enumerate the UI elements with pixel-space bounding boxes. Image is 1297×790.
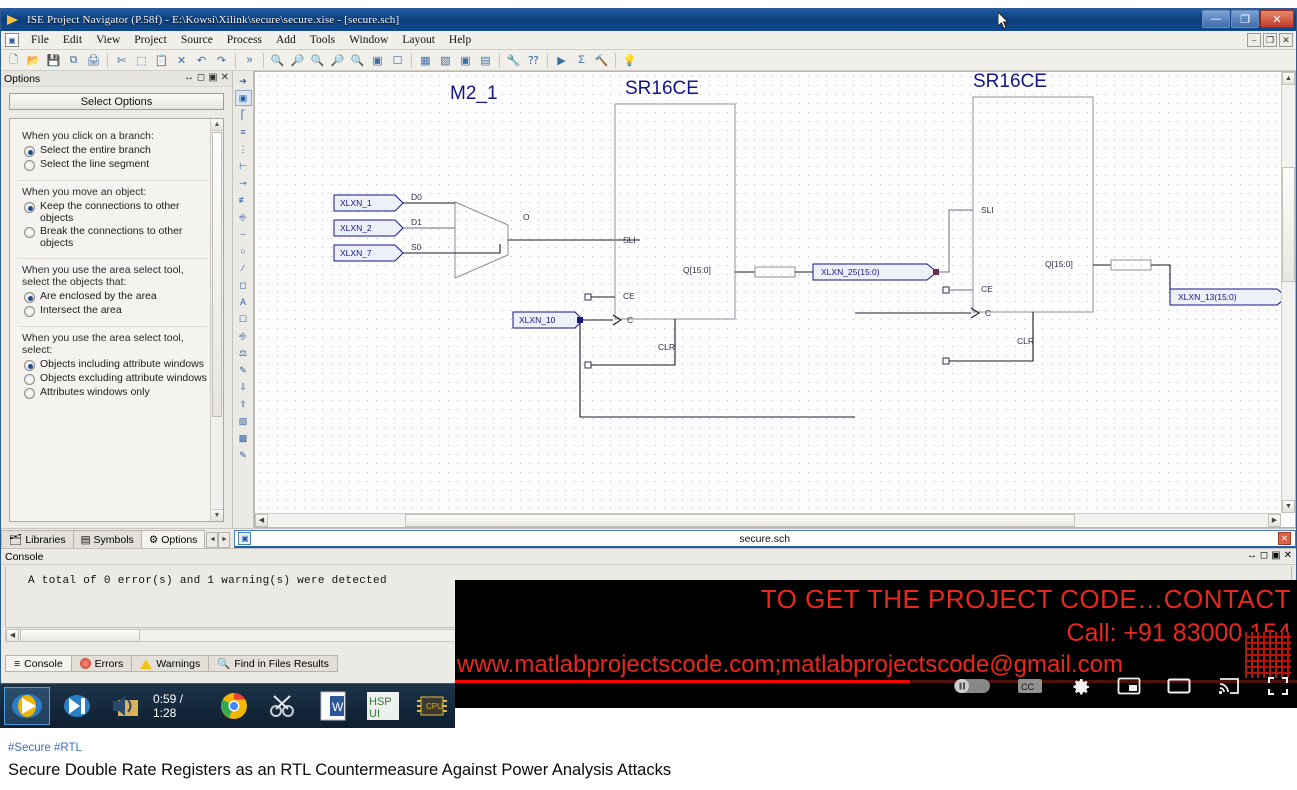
document-tab-secure-sch[interactable]: ▣ secure.sch ✕: [234, 530, 1296, 548]
scroll-right-arrow-icon[interactable]: ▶: [1268, 514, 1281, 527]
draw-rectangle-icon[interactable]: ◻: [235, 277, 252, 293]
video-controls-bar: CC: [455, 668, 1297, 708]
svg-text:XLXN_7: XLXN_7: [340, 248, 372, 258]
console-icon: ≡: [14, 658, 20, 670]
toolbar-separator: [615, 53, 616, 68]
tab-libraries[interactable]: 🗂 Libraries: [1, 530, 74, 548]
minimize-button[interactable]: —: [1202, 10, 1230, 28]
options-list-container: When you click on a branch: Select the e…: [9, 118, 224, 522]
scroll-down-arrow-icon[interactable]: ▼: [1282, 500, 1295, 513]
add-net-name-icon[interactable]: ≡: [235, 124, 252, 140]
svg-text:C: C: [985, 308, 991, 318]
draw-line-icon[interactable]: ∕: [235, 260, 252, 276]
new-sheet-icon[interactable]: ▨: [235, 413, 252, 429]
float-icon[interactable]: ↔: [184, 72, 194, 83]
svg-text:D0: D0: [411, 192, 422, 202]
menu-item-layout[interactable]: Layout: [395, 33, 442, 47]
idea-icon[interactable]: 💡: [620, 52, 639, 69]
video-player-overlay[interactable]: TO GET THE PROJECT CODE…CONTACT Call: +9…: [455, 580, 1297, 708]
svg-text:CC: CC: [1021, 682, 1034, 692]
block-title-m2-1: M2_1: [450, 83, 498, 104]
option-group-move-object: When you move an object: Keep the connec…: [18, 181, 207, 259]
console-tab-errors[interactable]: Errors: [71, 655, 133, 672]
select-pointer-icon[interactable]: ➔: [235, 73, 252, 89]
cc-icon[interactable]: CC: [1017, 677, 1043, 700]
net-flag-xlxn-7: XLXN_7: [334, 245, 403, 261]
create-symbol-icon[interactable]: ⎆: [235, 328, 252, 344]
panel-right-icon[interactable]: ▤: [476, 52, 495, 69]
tab-label: Warnings: [156, 658, 200, 670]
video-metadata: #Secure #RTL Secure Double Rate Register…: [0, 736, 1297, 790]
window-title: ISE Project Navigator (P.58f) - E:\Kowsi…: [27, 14, 399, 26]
svg-text:XLXN_25(15:0): XLXN_25(15:0): [821, 267, 880, 277]
maximize-icon[interactable]: ◻: [197, 72, 205, 83]
option-label: Intersect the area: [40, 305, 122, 317]
radio-icon[interactable]: [24, 160, 35, 171]
run-icon[interactable]: ▶: [552, 52, 571, 69]
dock-icon[interactable]: ▣: [208, 72, 217, 83]
menu-item-window[interactable]: Window: [342, 33, 395, 47]
media-next-icon[interactable]: [54, 687, 100, 725]
options-panel-header: Options ↔ ◻ ▣ ✕: [1, 71, 232, 87]
symbol-wizard-icon[interactable]: ⚖: [235, 345, 252, 361]
video-title: Secure Double Rate Registers as an RTL C…: [0, 754, 1297, 780]
option-group-area-select-attributes: When you use the area select tool, selec…: [18, 327, 207, 408]
internet-explorer-icon[interactable]: [4, 687, 50, 725]
window-controls: — ❐ ✕: [1202, 10, 1294, 28]
radio-icon[interactable]: [24, 146, 35, 157]
options-icon: ⚙: [149, 534, 158, 546]
libraries-icon: 🗂: [9, 533, 22, 546]
constraints-icon[interactable]: 🔨: [592, 52, 611, 69]
add-wire-icon[interactable]: ⎡: [235, 107, 252, 123]
screen-root: ISE Project Navigator (P.58f) - E:\Kowsi…: [0, 0, 1297, 790]
svg-text:XLXN_2: XLXN_2: [340, 223, 372, 233]
schematic-doc-icon: ▣: [5, 33, 19, 47]
find-in-files-icon: 🔍: [217, 657, 230, 670]
edit-sheet-icon[interactable]: ✎: [235, 447, 252, 463]
net-flag-xlxn-2: XLXN_2: [334, 220, 403, 236]
console-tab-warnings[interactable]: Warnings: [131, 655, 209, 672]
save-icon[interactable]: 💾: [44, 52, 63, 69]
option-select-entire-branch[interactable]: Select the entire branch: [24, 145, 207, 157]
video-hashtags[interactable]: #Secure #RTL: [0, 736, 1297, 754]
canvas-vertical-scrollbar[interactable]: ▲ ▼: [1281, 72, 1295, 513]
tab-symbols[interactable]: ▤ Symbols: [73, 530, 142, 548]
chrome-icon[interactable]: [211, 687, 257, 725]
volume-mixer-icon[interactable]: [103, 687, 149, 725]
close-icon[interactable]: ✕: [221, 72, 229, 83]
title-bar: ISE Project Navigator (P.58f) - E:\Kowsi…: [1, 9, 1296, 31]
console-panel-title: Console: [5, 551, 44, 563]
net-flag-xlxn-25: XLXN_25(15:0): [813, 264, 937, 280]
svg-text:CLR: CLR: [658, 342, 675, 352]
refresh-icon[interactable]: ▣: [368, 52, 387, 69]
copy-icon[interactable]: ⬚: [132, 52, 151, 69]
console-tab-strip: ≡ Console Errors Warnings 🔍 Find in File…: [5, 655, 337, 672]
vertical-scrollbar-thumb[interactable]: [1282, 167, 1295, 282]
highlight-icon[interactable]: ✎: [235, 362, 252, 378]
block-title-sr16ce-1: SR16CE: [625, 78, 699, 99]
panel-left-icon[interactable]: ▦: [416, 52, 435, 69]
theater-icon[interactable]: [1167, 676, 1191, 701]
add-net-attribute-icon[interactable]: ⎆: [235, 209, 252, 225]
pop-out-icon[interactable]: ⇧: [235, 396, 252, 412]
scroll-left-arrow-icon[interactable]: ◀: [255, 514, 268, 527]
add-io-marker-icon[interactable]: ⊢: [235, 158, 252, 174]
block-title-sr16ce-2: SR16CE: [973, 72, 1047, 92]
svg-text:XLXN_13(15:0): XLXN_13(15:0): [1178, 292, 1237, 302]
hspui-icon[interactable]: HSPUI: [360, 687, 406, 725]
net-flag-xlxn-10: XLXN_10: [513, 312, 583, 328]
select-options-button[interactable]: Select Options: [9, 93, 224, 110]
options-panel: Options ↔ ◻ ▣ ✕ Select Options When you …: [1, 71, 233, 528]
cut-icon[interactable]: ✄: [112, 52, 131, 69]
fullscreen-icon[interactable]: [1267, 676, 1289, 701]
maximize-icon[interactable]: ◻: [1260, 550, 1268, 561]
menu-item-tools[interactable]: Tools: [303, 33, 342, 47]
check-schematic-icon[interactable]: ☐: [235, 311, 252, 327]
float-icon[interactable]: ↔: [1247, 550, 1257, 561]
help-pointer-icon[interactable]: ⁇: [524, 52, 543, 69]
scroll-left-arrow-icon[interactable]: ◀: [6, 629, 19, 642]
svg-text:CE: CE: [623, 291, 635, 301]
restore-button[interactable]: ❐: [1231, 10, 1259, 28]
svg-text:CLR: CLR: [1017, 336, 1034, 346]
schematic-editor[interactable]: M2_1 XLXN_1 XLXN_2 XLX: [254, 71, 1296, 528]
svg-text:XLXN_10: XLXN_10: [519, 315, 556, 325]
option-intersect-area[interactable]: Intersect the area: [24, 305, 207, 317]
menu-item-help[interactable]: Help: [442, 33, 478, 47]
windows-taskbar: 0:59 / 1:28 W HSPUI CPU: [0, 683, 455, 728]
document-close-button[interactable]: ✕: [1278, 532, 1291, 545]
video-controls-right: CC: [953, 675, 1289, 702]
design-utilities-icon[interactable]: 🔧: [504, 52, 523, 69]
svg-text:S0: S0: [411, 242, 422, 252]
scroll-up-arrow-icon[interactable]: ▲: [211, 119, 223, 131]
option-group-question: When you use the area select tool, selec…: [22, 332, 207, 356]
radio-icon[interactable]: [24, 292, 35, 303]
scroll-up-arrow-icon[interactable]: ▲: [1282, 72, 1295, 85]
zoom-out-icon[interactable]: 🔎: [288, 52, 307, 69]
radio-icon[interactable]: [24, 306, 35, 317]
net-flag-xlxn-13: XLXN_13(15:0): [1170, 289, 1281, 305]
option-excluding-attribute-windows[interactable]: Objects excluding attribute windows: [24, 373, 207, 385]
menu-item-project[interactable]: Project: [127, 33, 174, 47]
toolbar-separator: [499, 53, 500, 68]
option-group-question: When you use the area select tool, selec…: [22, 264, 207, 288]
tab-label: Find in Files Results: [234, 658, 329, 670]
app-logo-icon: [7, 13, 23, 27]
add-text-icon[interactable]: A: [235, 294, 252, 310]
remove-sheet-icon[interactable]: ▩: [235, 430, 252, 446]
menu-item-edit[interactable]: Edit: [56, 33, 89, 47]
toolbar-separator: [107, 53, 108, 68]
svg-text:HSP: HSP: [369, 696, 392, 708]
option-select-line-segment[interactable]: Select the line segment: [24, 159, 207, 171]
tab-label: Libraries: [25, 534, 65, 546]
menu-item-file[interactable]: File: [24, 33, 56, 47]
toolbar-separator: [235, 53, 236, 68]
radio-icon[interactable]: [24, 360, 35, 371]
summation-icon[interactable]: Σ: [572, 52, 591, 69]
scroll-down-arrow-icon[interactable]: ▼: [211, 509, 223, 521]
svg-text:W: W: [332, 700, 344, 714]
svg-text:Q[15:0]: Q[15:0]: [1045, 259, 1073, 269]
print-icon[interactable]: 🖨: [84, 52, 103, 69]
promo-text-block: TO GET THE PROJECT CODE…CONTACT Call: +9…: [455, 584, 1291, 679]
tab-navigation: ◄ ►: [206, 532, 230, 548]
symbols-icon: ▤: [81, 534, 91, 546]
svg-text:UI: UI: [369, 708, 380, 720]
redo-icon[interactable]: ↷: [212, 52, 231, 69]
panel-full-icon[interactable]: ▣: [456, 52, 475, 69]
xilinx-chip-icon[interactable]: CPU: [409, 687, 455, 725]
option-enclosed-by-area[interactable]: Are enclosed by the area: [24, 291, 207, 303]
option-including-attribute-windows[interactable]: Objects including attribute windows: [24, 359, 207, 371]
schematic-drawing: M2_1 XLXN_1 XLXN_2 XLX: [255, 72, 1281, 502]
zoom-fit-icon[interactable]: 🔎: [328, 52, 347, 69]
autoplay-toggle-icon[interactable]: [953, 677, 991, 700]
paste-icon[interactable]: 📋: [152, 52, 171, 69]
console-scrollbar-thumb[interactable]: [20, 629, 140, 642]
svg-text:Q[15:0]: Q[15:0]: [683, 265, 711, 275]
zoom-page-icon[interactable]: ☐: [388, 52, 407, 69]
draw-arc-icon[interactable]: ⌣: [235, 226, 252, 242]
net-flag-xlxn-1: XLXN_1: [334, 195, 403, 211]
option-label: Select the line segment: [40, 159, 149, 171]
scrollbar-thumb[interactable]: [212, 132, 222, 417]
close-button[interactable]: ✕: [1260, 10, 1294, 28]
options-list: When you click on a branch: Select the e…: [10, 119, 223, 408]
option-group-branch-click: When you click on a branch: Select the e…: [18, 125, 207, 181]
tab-prev-button[interactable]: ◄: [206, 532, 218, 548]
radio-icon[interactable]: [24, 388, 35, 399]
option-attributes-windows-only[interactable]: Attributes windows only: [24, 387, 207, 399]
horizontal-scrollbar-thumb[interactable]: [405, 514, 1075, 527]
tab-options[interactable]: ⚙ Options: [141, 530, 206, 548]
zoom-area-icon[interactable]: 🔍: [308, 52, 327, 69]
zoom-selection-icon[interactable]: 🔍: [348, 52, 367, 69]
mdi-restore-button[interactable]: ❐: [1263, 33, 1277, 47]
console-tab-console[interactable]: ≡ Console: [5, 655, 72, 672]
mdi-window-controls: – ❐ ✕: [1247, 33, 1293, 47]
warning-icon: [140, 659, 152, 669]
time-separator: /: [180, 692, 183, 706]
option-group-question: When you move an object:: [22, 186, 207, 198]
open-file-icon[interactable]: 📂: [24, 52, 43, 69]
add-bus-tap-icon[interactable]: ⊸: [235, 175, 252, 191]
view-tab-strip: 🗂 Libraries ▤ Symbols ⚙ Options ◄ ► ▣ se…: [1, 528, 1296, 548]
option-group-area-select-objects: When you use the area select tool, selec…: [18, 259, 207, 327]
current-time: 0:59: [153, 692, 176, 706]
option-label: Objects excluding attribute windows: [40, 373, 207, 385]
add-instance-name-icon[interactable]: ≢: [235, 192, 252, 208]
option-label: Keep the connections to other objects: [40, 201, 207, 224]
mouse-cursor: [998, 12, 1011, 31]
option-group-question: When you click on a branch:: [22, 130, 207, 142]
word-icon[interactable]: W: [310, 687, 356, 725]
error-icon: [80, 658, 91, 669]
schematic-file-icon: ▣: [238, 532, 251, 545]
svg-text:CPU: CPU: [426, 702, 443, 711]
menu-item-process[interactable]: Process: [220, 33, 269, 47]
tab-label: Errors: [95, 658, 124, 670]
options-scrollbar[interactable]: ▲ ▼: [210, 119, 223, 521]
option-label: Attributes windows only: [40, 387, 150, 399]
playback-time: 0:59 / 1:28: [153, 692, 207, 720]
svg-text:CE: CE: [981, 284, 993, 294]
close-icon[interactable]: ✕: [1284, 550, 1292, 561]
tab-next-button[interactable]: ►: [218, 532, 230, 548]
console-panel-header: Console ↔ ◻ ▣ ✕: [1, 549, 1296, 565]
option-label: Break the connections to other objects: [40, 226, 207, 249]
menu-item-source[interactable]: Source: [174, 33, 220, 47]
console-tab-find-in-files[interactable]: 🔍 Find in Files Results: [208, 655, 338, 672]
snipping-tool-icon[interactable]: [261, 687, 307, 725]
main-toolbar: 🗋 📂 💾 ⧉ 🖨 ✄ ⬚ 📋 ✕ ↶ ↷ » 🔍 🔎 🔍 🔎 🔍 ▣ ☐ ▦ …: [1, 50, 1296, 71]
toolbar-separator: [263, 53, 264, 68]
svg-text:C: C: [627, 315, 633, 325]
push-into-symbol-icon[interactable]: ⇩: [235, 379, 252, 395]
undo-icon[interactable]: ↶: [192, 52, 211, 69]
mdi-minimize-button[interactable]: –: [1247, 33, 1261, 47]
new-file-icon[interactable]: 🗋: [4, 52, 23, 69]
option-label: Objects including attribute windows: [40, 359, 204, 371]
panel-split-icon[interactable]: ▧: [436, 52, 455, 69]
ise-body: Options ↔ ◻ ▣ ✕ Select Options When you …: [1, 71, 1296, 528]
option-label: Are enclosed by the area: [40, 291, 157, 303]
delete-icon[interactable]: ✕: [172, 52, 191, 69]
add-bus-name-icon[interactable]: ⋮: [235, 141, 252, 157]
toolbar-separator: [411, 53, 412, 68]
option-break-connections[interactable]: Break the connections to other objects: [24, 226, 207, 249]
gear-icon[interactable]: [1069, 675, 1091, 702]
miniplayer-icon[interactable]: [1117, 676, 1141, 701]
tab-label: Symbols: [94, 534, 134, 546]
promo-line-1: TO GET THE PROJECT CODE…CONTACT: [455, 584, 1291, 615]
dock-icon[interactable]: ▣: [1271, 550, 1280, 561]
canvas-horizontal-scrollbar[interactable]: ◀ ▶: [255, 513, 1281, 527]
schematic-canvas[interactable]: M2_1 XLXN_1 XLXN_2 XLX: [255, 72, 1281, 513]
save-all-icon[interactable]: ⧉: [64, 52, 83, 69]
add-symbol-icon[interactable]: ▣: [235, 90, 252, 106]
svg-text:SLI: SLI: [623, 235, 636, 245]
svg-text:O: O: [523, 212, 530, 222]
document-tab-label: secure.sch: [251, 533, 1278, 545]
tab-label: Console: [24, 658, 63, 670]
schematic-draw-toolbar: ➔ ▣ ⎡ ≡ ⋮ ⊢ ⊸ ≢ ⎆ ⌣ ○ ∕ ◻ A ☐ ⎆ ⚖ ✎ ⇩ ⇧: [233, 71, 254, 528]
options-panel-title: Options: [4, 73, 40, 85]
toolbar-separator: [547, 53, 548, 68]
zoom-in-icon[interactable]: 🔍: [268, 52, 287, 69]
duration: 1:28: [153, 706, 176, 720]
svg-text:SLI: SLI: [981, 205, 994, 215]
menu-item-view[interactable]: View: [89, 33, 127, 47]
mdi-close-button[interactable]: ✕: [1279, 33, 1293, 47]
radio-icon[interactable]: [24, 374, 35, 385]
promo-line-2: Call: +91 83000 154: [455, 619, 1291, 648]
draw-circle-icon[interactable]: ○: [235, 243, 252, 259]
svg-text:XLXN_1: XLXN_1: [340, 198, 372, 208]
radio-icon[interactable]: [24, 202, 35, 213]
menu-item-add[interactable]: Add: [269, 33, 303, 47]
tab-label: Options: [161, 534, 197, 546]
svg-text:D1: D1: [411, 217, 422, 227]
menu-bar: ▣ File Edit View Project Source Process …: [1, 31, 1296, 50]
cast-icon[interactable]: [1217, 676, 1241, 701]
option-label: Select the entire branch: [40, 145, 151, 157]
radio-icon[interactable]: [24, 227, 35, 238]
option-keep-connections[interactable]: Keep the connections to other objects: [24, 201, 207, 224]
overflow-icon[interactable]: »: [240, 52, 259, 69]
